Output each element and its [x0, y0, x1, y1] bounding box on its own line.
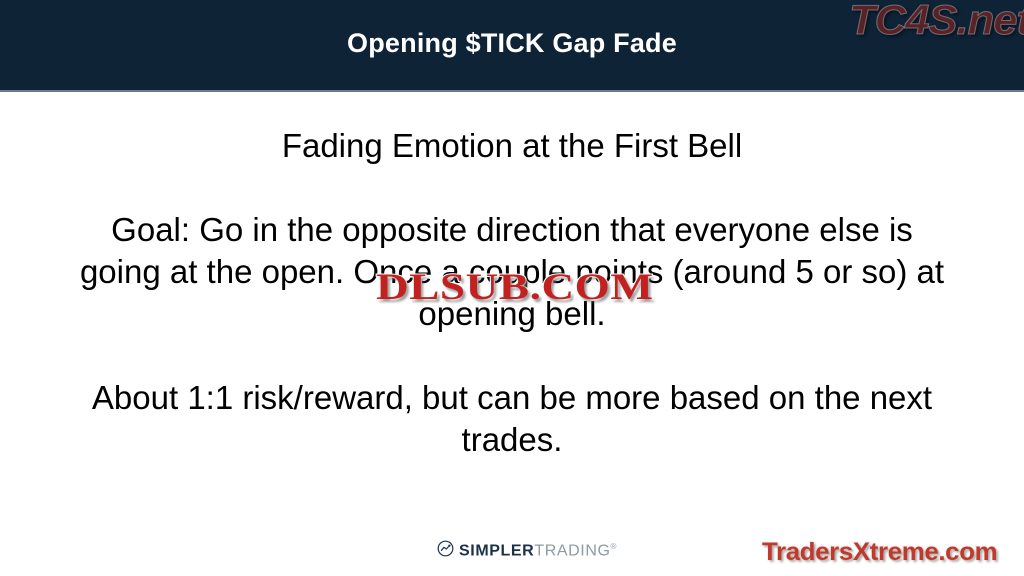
brand-name-primary: SIMPLER	[459, 542, 534, 559]
simpler-trading-logo: SIMPLERTRADING®	[437, 538, 617, 559]
slide-body: Fading Emotion at the First Bell Goal: G…	[0, 92, 1024, 576]
paragraph-spacer	[72, 167, 952, 209]
chart-circle-icon	[437, 540, 454, 557]
body-paragraph-3: About 1:1 risk/reward, but can be more b…	[72, 377, 952, 461]
paragraph-spacer	[72, 335, 952, 377]
brand-name-secondary: TRADING	[534, 542, 610, 559]
slide-title: Opening $TICK Gap Fade	[0, 28, 1024, 59]
slide-body-text: Fading Emotion at the First Bell Goal: G…	[72, 125, 952, 461]
presentation-slide: Opening $TICK Gap Fade TC4S.net Fading E…	[0, 0, 1024, 576]
registered-trademark-symbol: ®	[611, 542, 618, 551]
body-paragraph-1: Fading Emotion at the First Bell	[72, 125, 952, 167]
slide-header-bar: Opening $TICK Gap Fade TC4S.net	[0, 0, 1024, 92]
brand-wordmark: SIMPLERTRADING®	[459, 538, 617, 559]
body-paragraph-2: Goal: Go in the opposite direction that …	[72, 209, 952, 335]
